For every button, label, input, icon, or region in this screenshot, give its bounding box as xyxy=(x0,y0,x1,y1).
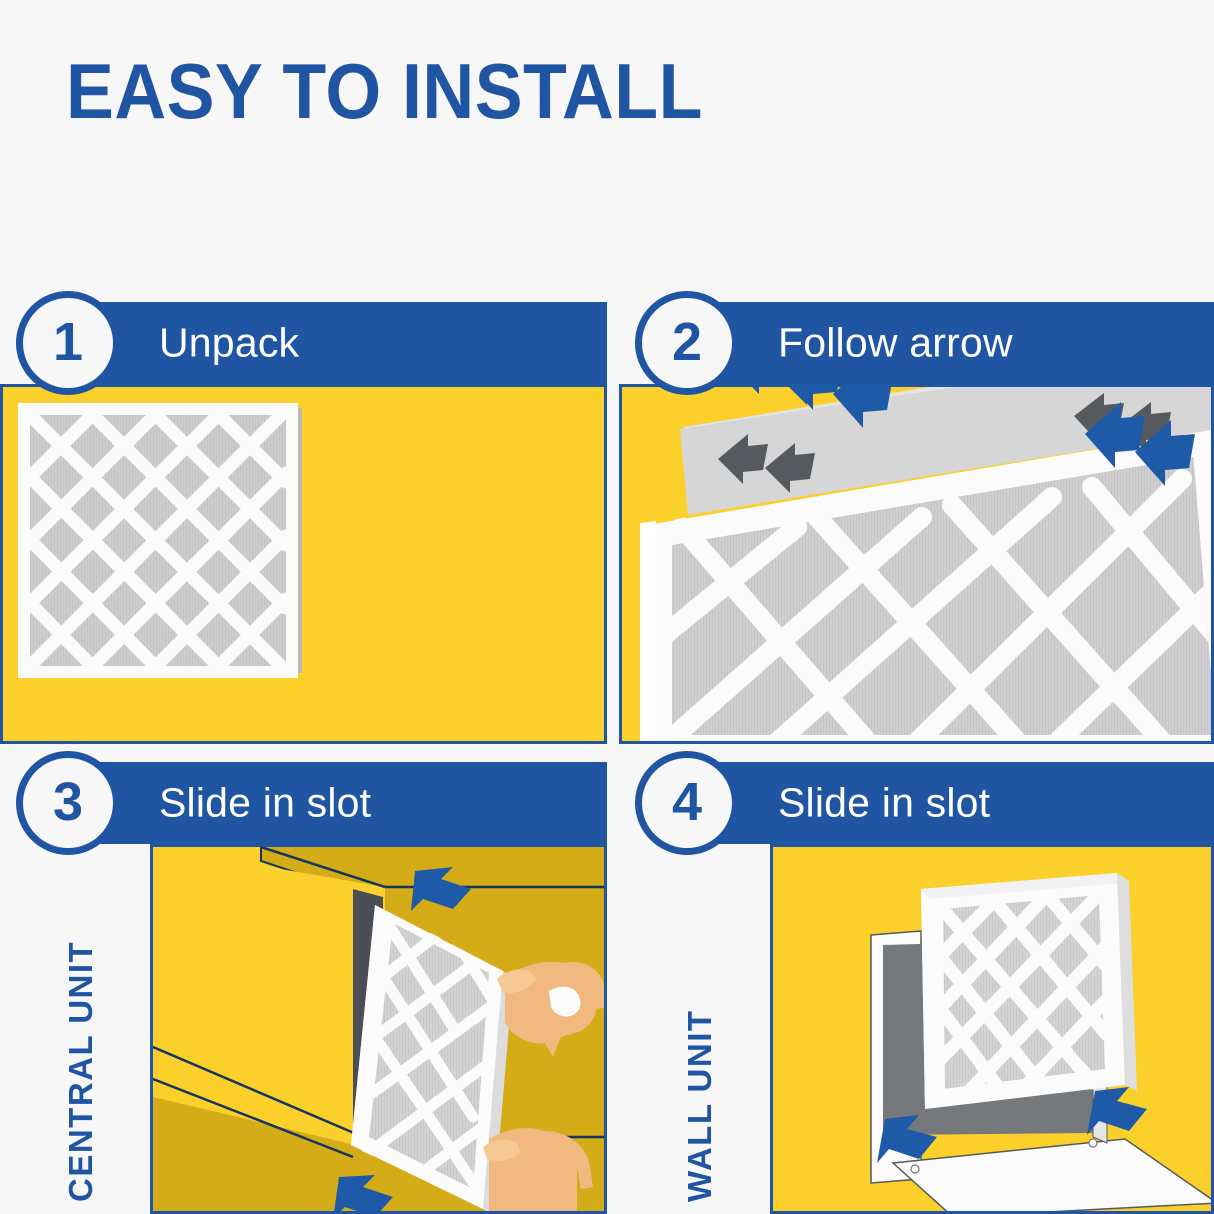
step-1-number: 1 xyxy=(53,315,83,369)
step-2-header: Follow arrow xyxy=(666,302,1214,384)
step-2-illustration xyxy=(619,384,1214,744)
step-2-label: Follow arrow xyxy=(778,320,1013,367)
step-3-label: Slide in slot xyxy=(159,780,371,827)
step-2-badge: 2 xyxy=(635,291,739,395)
step-4-illustration xyxy=(770,844,1214,1214)
tilted-air-filter-icon xyxy=(622,387,1214,744)
step-4-label: Slide in slot xyxy=(778,780,990,827)
step-panel-1: Unpack 1 xyxy=(0,288,607,748)
step-3-number: 3 xyxy=(53,775,83,829)
step-3-header: Slide in slot xyxy=(47,762,607,844)
step-panel-4: Slide in slot 4 WALL UNIT xyxy=(607,748,1214,1214)
step-1-badge: 1 xyxy=(16,291,120,395)
step-2-number: 2 xyxy=(672,315,702,369)
step-4-badge: 4 xyxy=(635,751,739,855)
hands-inserting-filter-into-central-unit-icon xyxy=(153,847,607,1214)
step-panel-3: Slide in slot 3 CENTRAL UNIT xyxy=(0,748,607,1214)
filter-into-wall-unit-grille-icon xyxy=(773,847,1214,1214)
step-1-illustration xyxy=(0,384,607,744)
step-3-illustration xyxy=(150,844,607,1214)
step-panel-2: Follow arrow 2 xyxy=(607,288,1214,748)
step-3-badge: 3 xyxy=(16,751,120,855)
infographic-root: EASY TO INSTALL xyxy=(0,0,1214,1214)
step-1-header: Unpack xyxy=(47,302,607,384)
step-1-label: Unpack xyxy=(159,320,299,367)
step-4-number: 4 xyxy=(672,775,702,829)
air-filter-icon xyxy=(3,387,607,744)
page-title: EASY TO INSTALL xyxy=(66,52,703,130)
step-4-header: Slide in slot xyxy=(666,762,1214,844)
